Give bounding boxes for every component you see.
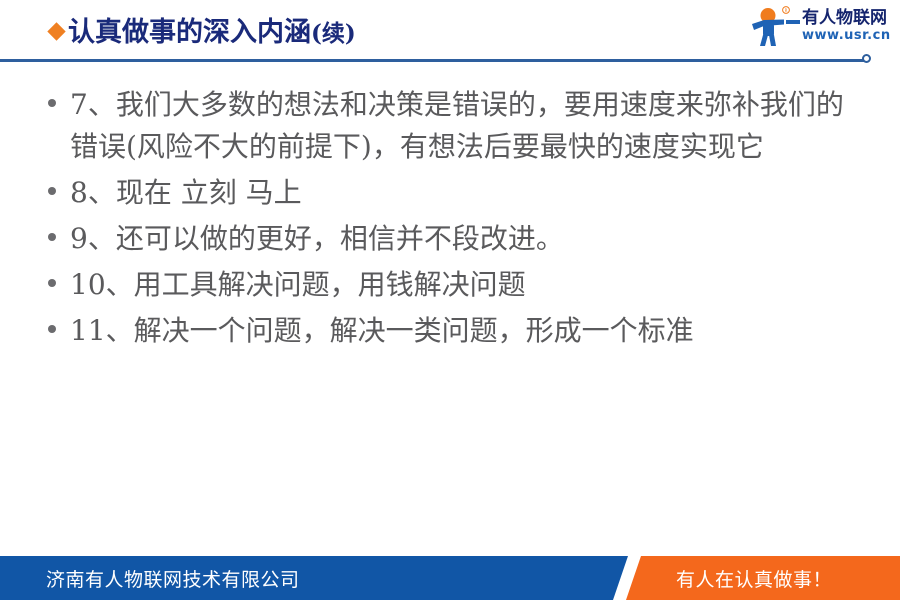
list-item-label: 11、解决一个问题，解决一类问题，形成一个标准 bbox=[70, 310, 858, 352]
slide-footer: 济南有人物联网技术有限公司 有人在认真做事！ bbox=[0, 556, 900, 600]
svg-text:R: R bbox=[785, 8, 788, 13]
logo-website: www.usr.cn bbox=[802, 28, 894, 44]
list-item: 7、我们大多数的想法和决策是错误的，要用速度来弥补我们的错误(风险不大的前提下)… bbox=[48, 84, 858, 168]
bullet-dot-icon bbox=[48, 233, 56, 241]
logo-text-block: 有人物联网 www.usr.cn bbox=[802, 8, 894, 44]
diamond-icon bbox=[47, 22, 65, 40]
page-title: 认真做事的深入内涵 (续) bbox=[50, 14, 356, 48]
page-title-suffix: (续) bbox=[311, 14, 356, 48]
company-logo: R 有人物联网 www.usr.cn bbox=[746, 6, 894, 50]
circle-icon bbox=[862, 54, 871, 63]
bullet-dot-icon bbox=[48, 99, 56, 107]
footer-slogan: 有人在认真做事！ bbox=[676, 556, 832, 600]
list-item-label: 9、还可以做的更好，相信并不段改进。 bbox=[70, 218, 858, 260]
list-item: 11、解决一个问题，解决一类问题，形成一个标准 bbox=[48, 310, 858, 352]
list-item: 10、用工具解决问题，用钱解决问题 bbox=[48, 264, 858, 306]
slide-header: 认真做事的深入内涵 (续) R 有人物联网 bbox=[0, 0, 900, 62]
bullet-dot-icon bbox=[48, 187, 56, 195]
page-title-main: 认真做事的深入内涵 bbox=[68, 18, 311, 48]
person-figure-icon: R bbox=[746, 6, 802, 48]
list-item: 9、还可以做的更好，相信并不段改进。 bbox=[48, 218, 858, 260]
bullet-dot-icon bbox=[48, 279, 56, 287]
list-item-label: 10、用工具解决问题，用钱解决问题 bbox=[70, 264, 858, 306]
logo-company-name: 有人物联网 bbox=[802, 8, 894, 28]
bullet-dot-icon bbox=[48, 325, 56, 333]
slide-body: 7、我们大多数的想法和决策是错误的，要用速度来弥补我们的错误(风险不大的前提下)… bbox=[48, 84, 858, 356]
list-item-label: 8、现在 立刻 马上 bbox=[70, 172, 858, 214]
header-divider bbox=[0, 59, 866, 62]
footer-company-name: 济南有人物联网技术有限公司 bbox=[46, 556, 300, 600]
list-item: 8、现在 立刻 马上 bbox=[48, 172, 858, 214]
presentation-slide: 认真做事的深入内涵 (续) R 有人物联网 bbox=[0, 0, 900, 600]
list-item-label: 7、我们大多数的想法和决策是错误的，要用速度来弥补我们的错误(风险不大的前提下)… bbox=[70, 84, 858, 168]
